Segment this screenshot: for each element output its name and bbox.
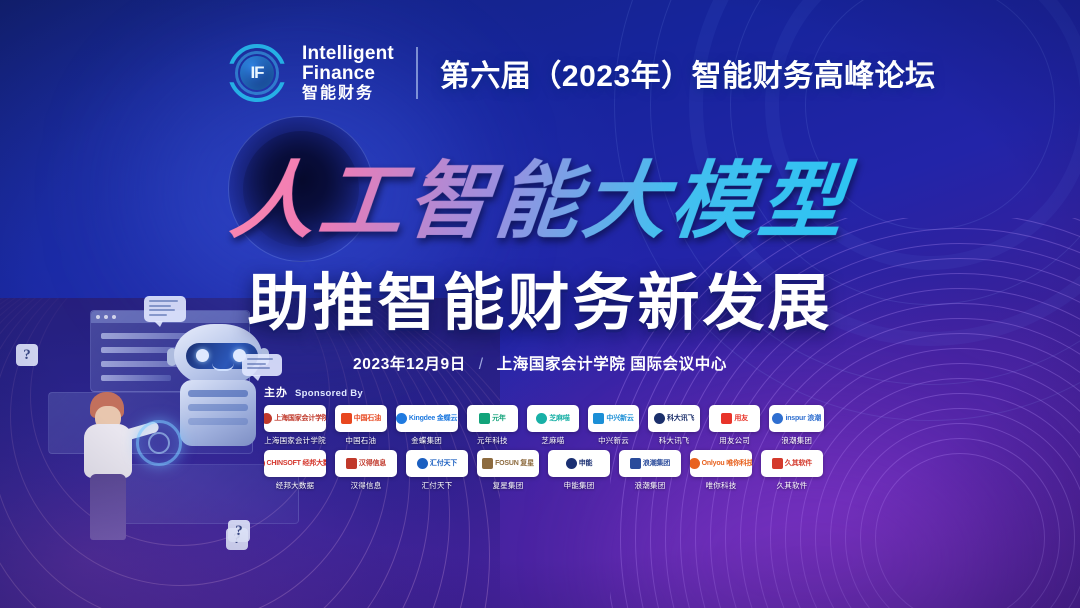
- sponsor-cell[interactable]: 久其软件久其软件: [761, 450, 823, 491]
- sponsor-name: 金蝶集团: [396, 435, 458, 446]
- sponsor-name: 申能集团: [548, 480, 610, 491]
- sponsors-heading: 主办 Sponsored By: [264, 384, 824, 400]
- sponsor-logo[interactable]: 久其软件: [761, 450, 823, 477]
- sponsor-logo-text: Onlyou 唯你科技: [690, 458, 752, 469]
- sponsor-name: 用友公司: [709, 435, 761, 446]
- sponsor-cell[interactable]: 元年元年科技: [467, 405, 519, 446]
- page-title: 第六届（2023年）智能财务高峰论坛: [440, 51, 936, 95]
- question-mark-icon-3: ?: [228, 520, 250, 542]
- sponsor-logo-text: 浪潮集团: [630, 458, 670, 469]
- sponsor-cell[interactable]: Onlyou 唯你科技唯你科技: [690, 450, 752, 491]
- sponsor-name: 元年科技: [467, 435, 519, 446]
- sponsor-name: 中国石油: [335, 435, 387, 446]
- sponsor-logo[interactable]: 浪潮集团: [619, 450, 681, 477]
- brand-header: IF Intelligent Finance 智能财务 第六届（2023年）智能…: [228, 44, 936, 102]
- hero-calligraphy-title: 人工智能大模型: [0, 134, 1080, 255]
- sponsor-cell[interactable]: CHINSOFT 经邦大数据经邦大数据: [264, 450, 326, 491]
- sponsor-cell[interactable]: 浪潮集团浪潮集团: [619, 450, 681, 491]
- logo-mark-text: IF: [250, 63, 263, 83]
- sponsor-logo-mark-icon: [772, 458, 783, 469]
- sponsor-logo[interactable]: Kingdee 金蝶云: [396, 405, 458, 432]
- sponsor-name: 中兴新云: [588, 435, 640, 446]
- sponsor-logo-text: Kingdee 金蝶云: [396, 413, 457, 424]
- sponsor-logo[interactable]: FOSUN 复星: [477, 450, 539, 477]
- sponsor-logo[interactable]: 汇付天下: [406, 450, 468, 477]
- brand-wordmark: Intelligent Finance 智能财务: [302, 44, 394, 102]
- sponsor-logo[interactable]: 用友: [709, 405, 761, 432]
- sponsor-logo[interactable]: 元年: [467, 405, 519, 432]
- person-figure: [78, 392, 140, 542]
- sponsor-logo-mark-icon: [346, 458, 357, 469]
- sponsor-name: 科大讯飞: [648, 435, 700, 446]
- sponsor-name: 芝麻喵: [527, 435, 579, 446]
- ai-robot-icon: [170, 324, 266, 448]
- sponsor-cell[interactable]: 中国石油中国石油: [335, 405, 387, 446]
- sponsor-cell[interactable]: 上海国家会计学院上海国家会计学院: [264, 405, 326, 446]
- sponsor-logo-mark-icon: [690, 458, 700, 469]
- sponsor-cell[interactable]: 申能申能集团: [548, 450, 610, 491]
- sponsor-logo-mark-icon: [482, 458, 493, 469]
- sponsor-logo-mark-icon: [654, 413, 665, 424]
- sponsor-logo-mark-icon: [396, 413, 407, 424]
- interaction-glow-ring: [136, 420, 182, 466]
- sponsor-logo[interactable]: 芝麻喵: [527, 405, 579, 432]
- sponsor-cell[interactable]: 汉得信息汉得信息: [335, 450, 397, 491]
- sponsor-logo-mark-icon: [566, 458, 577, 469]
- sponsors-label-cn: 主办: [264, 384, 288, 400]
- sponsor-logo-text: 汇付天下: [417, 458, 457, 469]
- sponsors-section: 主办 Sponsored By 上海国家会计学院上海国家会计学院中国石油中国石油…: [264, 384, 824, 495]
- sponsor-logo-text: 上海国家会计学院: [264, 413, 326, 424]
- sponsor-cell[interactable]: 汇付天下汇付天下: [406, 450, 468, 491]
- sponsor-logo-mark-icon: [341, 413, 352, 424]
- event-venue: 上海国家会计学院 国际会议中心: [497, 356, 727, 373]
- sponsor-logo-mark-icon: [536, 413, 547, 424]
- sponsor-logo-mark-icon: [721, 413, 732, 424]
- sponsor-logo-mark-icon: [630, 458, 641, 469]
- sponsor-name: 汇付天下: [406, 480, 468, 491]
- sponsor-logo[interactable]: 汉得信息: [335, 450, 397, 477]
- sponsor-logo[interactable]: inspur 浪潮: [769, 405, 824, 432]
- sponsor-name: 汉得信息: [335, 480, 397, 491]
- sponsor-name: 经邦大数据: [264, 480, 326, 491]
- sponsor-cell[interactable]: inspur 浪潮浪潮集团: [769, 405, 824, 446]
- event-meta: 2023年12月9日 / 上海国家会计学院 国际会议中心: [0, 352, 1080, 374]
- sponsor-row-1: 上海国家会计学院上海国家会计学院中国石油中国石油Kingdee 金蝶云金蝶集团元…: [264, 405, 824, 446]
- sponsor-logo-mark-icon: [264, 458, 265, 469]
- sponsor-logo-text: FOSUN 复星: [482, 458, 534, 469]
- header-divider: [416, 47, 418, 99]
- sponsor-logo[interactable]: Onlyou 唯你科技: [690, 450, 752, 477]
- sponsor-logo-mark-icon: [593, 413, 604, 424]
- sponsor-logo[interactable]: CHINSOFT 经邦大数据: [264, 450, 326, 477]
- sponsor-cell[interactable]: 中兴新云中兴新云: [588, 405, 640, 446]
- sponsor-logo-text: 中兴新云: [593, 413, 633, 424]
- sponsor-logo-mark-icon: [479, 413, 490, 424]
- sponsor-name: 复星集团: [477, 480, 539, 491]
- conference-poster: ? ? ? IF Intelligent Finance 智能财务 第六届（20…: [0, 0, 1080, 608]
- sponsor-cell[interactable]: 芝麻喵芝麻喵: [527, 405, 579, 446]
- sponsor-logo-text: 用友: [721, 413, 748, 424]
- brand-en-line1: Intelligent: [302, 44, 394, 63]
- sponsor-logo-text: 久其软件: [772, 458, 812, 469]
- sponsor-row-2: CHINSOFT 经邦大数据经邦大数据汉得信息汉得信息汇付天下汇付天下FOSUN…: [264, 450, 824, 491]
- event-date: 2023年12月9日: [353, 356, 466, 373]
- sponsor-logo-mark-icon: [772, 413, 783, 424]
- sponsor-name: 上海国家会计学院: [264, 435, 326, 446]
- sponsor-name: 久其软件: [761, 480, 823, 491]
- sponsor-logo-text: inspur 浪潮: [772, 413, 821, 424]
- sponsor-name: 唯你科技: [690, 480, 752, 491]
- hero-subtitle: 助推智能财务新发展: [0, 252, 1080, 342]
- sponsor-logo[interactable]: 中国石油: [335, 405, 387, 432]
- sponsor-logo-text: 芝麻喵: [536, 413, 569, 424]
- sponsor-logo[interactable]: 上海国家会计学院: [264, 405, 326, 432]
- intelligent-finance-logo-icon: IF: [228, 44, 286, 102]
- brand-cn: 智能财务: [302, 86, 394, 102]
- sponsor-cell[interactable]: 用友用友公司: [709, 405, 761, 446]
- sponsor-cell[interactable]: 科大讯飞科大讯飞: [648, 405, 700, 446]
- sponsors-label-en: Sponsored By: [295, 388, 363, 399]
- sponsor-logo-text: 中国石油: [341, 413, 381, 424]
- sponsor-logo-text: CHINSOFT 经邦大数据: [264, 458, 326, 469]
- sponsor-logo-mark-icon: [417, 458, 428, 469]
- sponsor-logo-text: 科大讯飞: [654, 413, 694, 424]
- sponsor-logo[interactable]: 申能: [548, 450, 610, 477]
- sponsor-cell[interactable]: FOSUN 复星复星集团: [477, 450, 539, 491]
- sponsor-logo-text: 申能: [566, 458, 593, 469]
- meta-separator: /: [479, 356, 484, 373]
- sponsor-logo-text: 元年: [479, 413, 506, 424]
- sponsor-name: 浪潮集团: [619, 480, 681, 491]
- sponsor-cell[interactable]: Kingdee 金蝶云金蝶集团: [396, 405, 458, 446]
- sponsor-logo[interactable]: 科大讯飞: [648, 405, 700, 432]
- sponsor-logo-text: 汉得信息: [346, 458, 386, 469]
- brand-en-line2: Finance: [302, 64, 394, 83]
- sponsor-name: 浪潮集团: [769, 435, 824, 446]
- sponsor-logo-mark-icon: [264, 413, 272, 424]
- sponsor-logo[interactable]: 中兴新云: [588, 405, 640, 432]
